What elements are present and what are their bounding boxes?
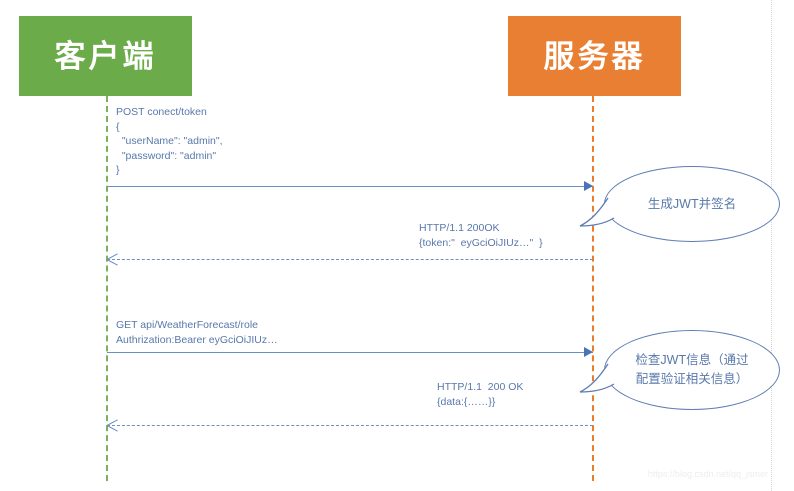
arrowhead-left-data-response [107, 420, 118, 431]
arrowhead-right-post-token [584, 181, 593, 191]
arrowhead-right-get-weatherforecast [584, 347, 593, 357]
message-label-data-response: HTTP/1.1 200 OK {data:{……}} [437, 380, 523, 409]
sequence-diagram-canvas: 客户端 服务器 POST conect/token { "userName": … [0, 0, 794, 491]
watermark-text: https://blog.csdn.net/qq_jsmer [648, 469, 768, 479]
callout-generate-jwt-label: 生成JWT并签名 [648, 195, 736, 214]
actor-box-server: 服务器 [508, 16, 681, 96]
actor-box-client: 客户端 [19, 16, 192, 96]
message-arrow-token-response [107, 259, 593, 260]
callout-verify-jwt: 检查JWT信息（通过 配置验证相关信息） [604, 330, 780, 410]
actor-label-client: 客户端 [55, 41, 157, 72]
message-arrow-data-response [107, 425, 593, 426]
message-arrow-get-weatherforecast [107, 352, 593, 353]
callout-verify-jwt-label: 检查JWT信息（通过 配置验证相关信息） [635, 351, 748, 389]
message-label-get-weatherforecast: GET api/WeatherForecast/role Authrizatio… [116, 318, 278, 347]
callout-tail-generate-jwt [578, 196, 624, 242]
callout-tail-verify-jwt [578, 362, 624, 408]
slide-guide-line [771, 0, 772, 491]
message-label-post-token: POST conect/token { "userName": "admin",… [116, 105, 223, 178]
arrowhead-left-token-response [107, 254, 118, 265]
actor-label-server: 服务器 [544, 41, 646, 72]
lifeline-server [592, 96, 594, 481]
callout-generate-jwt: 生成JWT并签名 [604, 166, 780, 242]
message-arrow-post-token [107, 186, 593, 187]
message-label-token-response: HTTP/1.1 200OK {token:" eyGciOiJIUz…" } [419, 221, 543, 250]
